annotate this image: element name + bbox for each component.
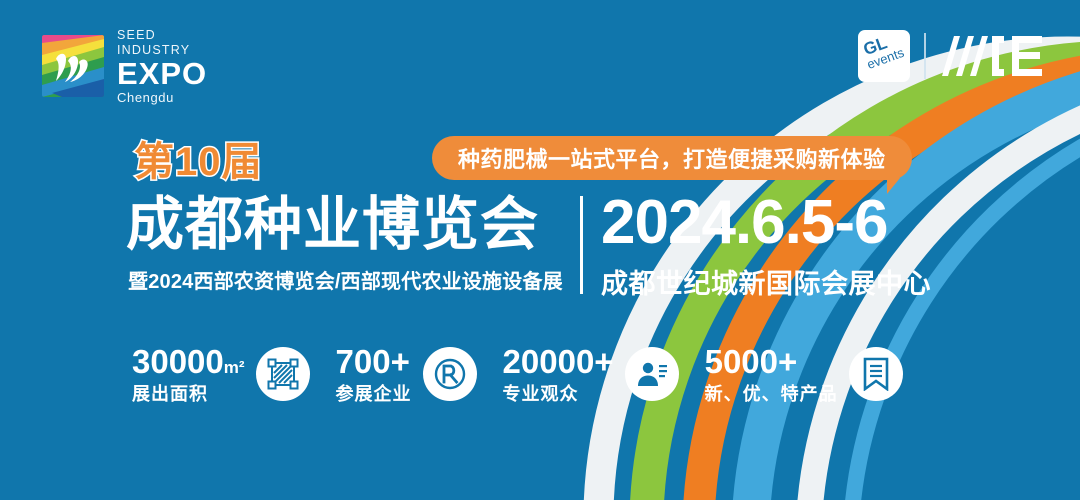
stat-label: 新、优、特产品 — [705, 385, 838, 403]
stat-value: 30000m² — [132, 345, 245, 378]
logo-divider — [924, 33, 926, 79]
stat-label: 参展企业 — [336, 385, 412, 403]
event-banner: SEED INDUSTRY EXPO Chengdu GL events — [0, 0, 1080, 500]
event-date: 2024.6.5-6 — [601, 192, 887, 254]
stat-label: 专业观众 — [503, 385, 614, 403]
seed-industry-expo-logo — [42, 35, 104, 97]
stat-label: 展出面积 — [132, 385, 245, 403]
stat-number: 5000+ — [705, 343, 798, 380]
banner-header: SEED INDUSTRY EXPO Chengdu GL events — [0, 0, 1080, 110]
stat-value: 700+ — [336, 345, 412, 378]
ribbon-tail-icon — [887, 178, 913, 194]
stat-number: 700+ — [336, 343, 410, 380]
logo-line-expo: EXPO — [117, 58, 207, 89]
stat-text: 5000+ 新、优、特产品 — [705, 345, 838, 403]
stat-value: 20000+ — [503, 345, 614, 378]
stat-text: 700+ 参展企业 — [336, 345, 412, 403]
stat-item: 20000+ 专业观众 — [503, 345, 679, 403]
aice-logo[interactable] — [940, 34, 1044, 78]
page-subtitle: 暨2024西部农资博览会/西部现代农业设施设备展 — [128, 265, 563, 294]
stats-row: 30000m² 展出面积 — [132, 345, 903, 403]
stat-value: 5000+ — [705, 345, 838, 378]
edition-number: 第10届 — [134, 142, 263, 182]
area-measure-icon — [256, 347, 310, 401]
stat-number: 30000 — [132, 343, 224, 380]
title-date-divider — [580, 196, 583, 294]
gl-events-logo[interactable]: GL events — [858, 30, 910, 82]
expo-wordmark: SEED INDUSTRY EXPO Chengdu — [117, 27, 207, 104]
stat-text: 20000+ 专业观众 — [503, 345, 614, 403]
stat-number: 20000+ — [503, 343, 614, 380]
stat-unit: m² — [224, 358, 245, 377]
stat-item: 700+ 参展企业 — [336, 345, 477, 403]
page-title: 成都种业博览会 — [126, 194, 539, 257]
partner-logos[interactable]: GL events — [858, 30, 1044, 82]
logo-line-seed: SEED — [117, 29, 207, 42]
event-venue: 成都世纪城新国际会展中心 — [601, 262, 931, 301]
stat-item: 30000m² 展出面积 — [132, 345, 310, 403]
registered-trademark-icon — [423, 347, 477, 401]
logo-line-city: Chengdu — [117, 91, 207, 104]
tagline-ribbon: 种药肥械一站式平台，打造便捷采购新体验 — [432, 136, 912, 180]
logo-line-industry: INDUSTRY — [117, 44, 207, 57]
stat-item: 5000+ 新、优、特产品 — [705, 345, 903, 403]
visitor-badge-icon — [625, 347, 679, 401]
bookmark-ribbon-icon — [849, 347, 903, 401]
seed-expo-brand[interactable]: SEED INDUSTRY EXPO Chengdu — [42, 27, 207, 104]
stat-text: 30000m² 展出面积 — [132, 345, 245, 403]
